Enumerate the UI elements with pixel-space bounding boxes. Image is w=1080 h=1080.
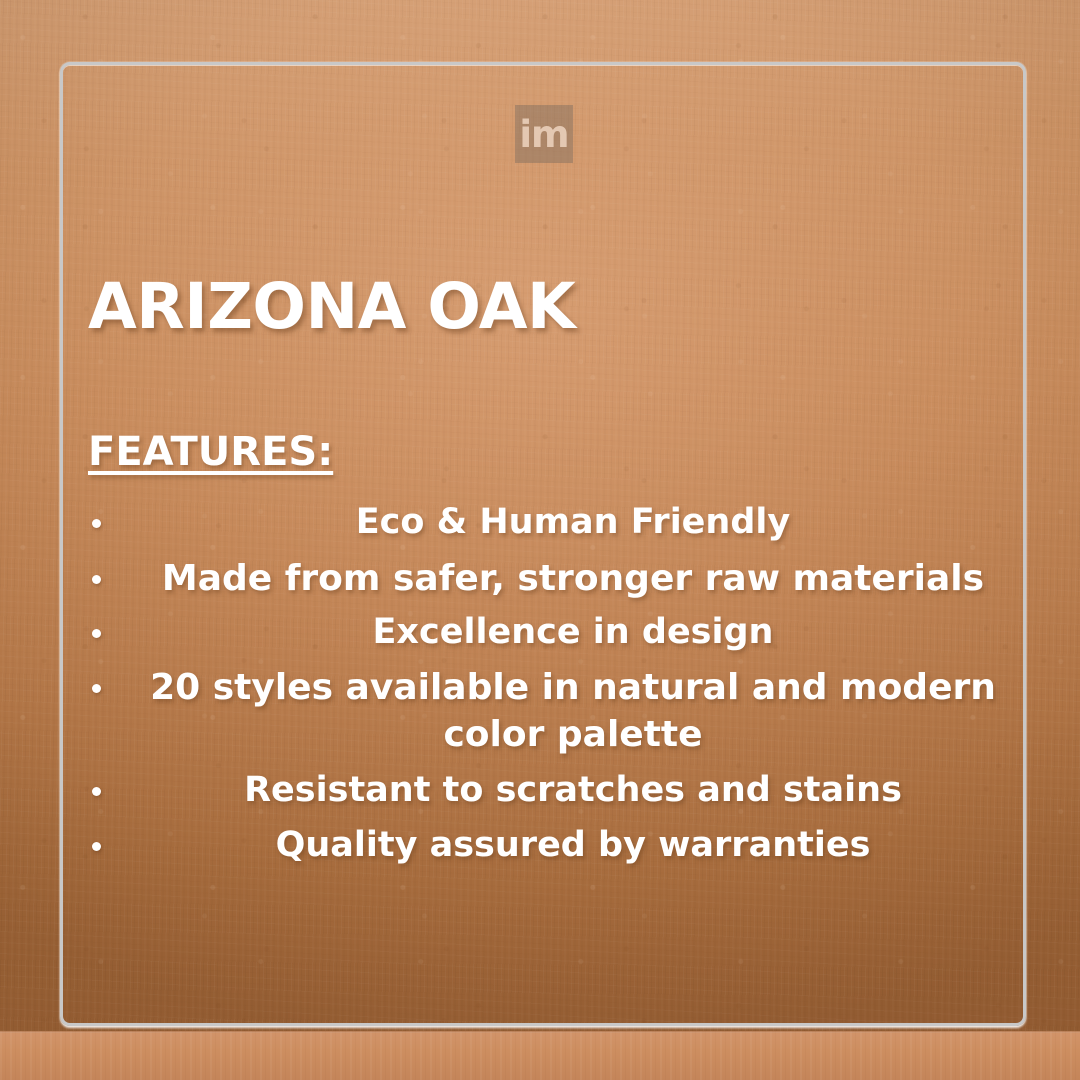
list-item: Resistant to scratches and stains <box>78 768 1022 814</box>
bullet-dot-icon <box>92 842 101 851</box>
list-item: Eco & Human Friendly <box>78 500 1022 546</box>
list-item: 20 styles available in natural and moder… <box>78 665 1022 759</box>
product-feature-poster: im ARIZONA OAK FEATURES: Eco & Human Fri… <box>0 0 1080 1080</box>
list-item: Excellence in design <box>78 610 1022 656</box>
list-item: Made from safer, stronger raw materials <box>78 556 1022 603</box>
list-item-label: Quality assured by warranties <box>276 825 871 865</box>
wood-floor-strip <box>0 1031 1080 1080</box>
list-item-label: Excellence in design <box>373 612 774 652</box>
page-title: ARIZONA OAK <box>88 274 575 340</box>
features-list: Eco & Human Friendly Made from safer, st… <box>78 500 1022 868</box>
floor-wall-seam-line <box>0 1031 1080 1033</box>
bullet-dot-icon <box>92 629 101 638</box>
list-item-label: Resistant to scratches and stains <box>244 770 902 810</box>
list-item-label: Made from safer, stronger raw materials <box>162 558 984 599</box>
features-heading: FEATURES: <box>88 430 333 474</box>
bullet-dot-icon <box>92 519 101 528</box>
list-item-label: Eco & Human Friendly <box>356 502 790 542</box>
list-item-label: 20 styles available in natural and moder… <box>150 667 996 755</box>
bullet-dot-icon <box>92 787 101 796</box>
bullet-dot-icon <box>92 684 101 693</box>
poster-content: ARIZONA OAK FEATURES: Eco & Human Friend… <box>0 0 1080 1031</box>
bullet-dot-icon <box>92 575 101 584</box>
list-item: Quality assured by warranties <box>78 823 1022 869</box>
